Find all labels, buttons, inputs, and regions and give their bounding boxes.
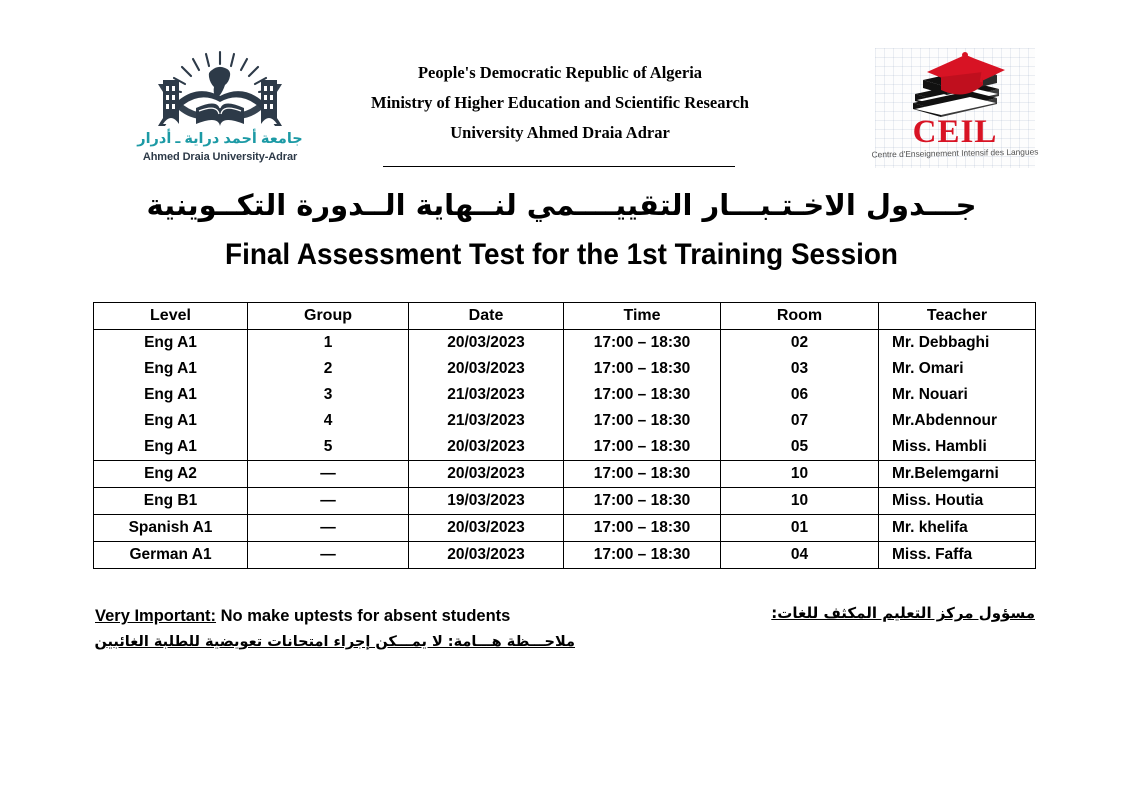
cell-teacher: Mr.Abdennour (879, 408, 1036, 434)
cell-room: 01 (721, 515, 879, 542)
cell-date: 21/03/2023 (409, 408, 564, 434)
cell-group: 4 (248, 408, 409, 434)
page-title-english: Final Assessment Test for the 1st Traini… (39, 238, 1083, 272)
signature-line-arabic: مسؤول مركز التعليم المكثف للغات: (771, 604, 1035, 622)
cell-time: 17:00 – 18:30 (564, 434, 721, 461)
cell-level: Eng A2 (94, 461, 248, 488)
header-line-country: People's Democratic Republic of Algeria (300, 58, 820, 88)
column-header-time: Time (564, 303, 721, 330)
cell-date: 20/03/2023 (409, 330, 564, 357)
cell-room: 10 (721, 488, 879, 515)
cell-teacher: Miss. Faffa (879, 542, 1036, 569)
cell-time: 17:00 – 18:30 (564, 356, 721, 382)
cell-teacher: Mr. Omari (879, 356, 1036, 382)
cell-room: 07 (721, 408, 879, 434)
cell-group: — (248, 488, 409, 515)
table-header-row: Level Group Date Time Room Teacher (94, 303, 1036, 330)
cell-group: 1 (248, 330, 409, 357)
table-row: Eng A1321/03/202317:00 – 18:3006Mr. Noua… (94, 382, 1036, 408)
cell-room: 02 (721, 330, 879, 357)
cell-date: 20/03/2023 (409, 356, 564, 382)
column-header-room: Room (721, 303, 879, 330)
schedule-table: Level Group Date Time Room Teacher Eng A… (93, 302, 1036, 569)
cell-group: 3 (248, 382, 409, 408)
column-header-group: Group (248, 303, 409, 330)
column-header-teacher: Teacher (879, 303, 1036, 330)
cell-room: 03 (721, 356, 879, 382)
graduation-cap-books-icon (897, 50, 1013, 120)
table-row: Eng A2—20/03/202317:00 – 18:3010Mr.Belem… (94, 461, 1036, 488)
university-logo-english-text: Ahmed Draia University-Adrar (100, 151, 340, 163)
schedule-table-head: Level Group Date Time Room Teacher (94, 303, 1036, 330)
cell-group: 2 (248, 356, 409, 382)
cell-group: 5 (248, 434, 409, 461)
table-row: Eng A1220/03/202317:00 – 18:3003Mr. Omar… (94, 356, 1036, 382)
cell-teacher: Miss. Houtia (879, 488, 1036, 515)
schedule-table-wrapper: Level Group Date Time Room Teacher Eng A… (93, 302, 1035, 569)
cell-level: Eng A1 (94, 356, 248, 382)
cell-group: — (248, 515, 409, 542)
cell-date: 20/03/2023 (409, 542, 564, 569)
important-note-arabic: ملاحـــظة هـــامة: لا يمـــكن إجراء امتح… (95, 634, 575, 650)
column-header-level: Level (94, 303, 248, 330)
cell-room: 05 (721, 434, 879, 461)
schedule-table-body: Eng A1120/03/202317:00 – 18:3002Mr. Debb… (94, 330, 1036, 569)
cell-group: — (248, 542, 409, 569)
cell-time: 17:00 – 18:30 (564, 461, 721, 488)
cell-teacher: Miss. Hambli (879, 434, 1036, 461)
ceil-logo-wordmark: CEIL (875, 116, 1035, 149)
cell-date: 21/03/2023 (409, 382, 564, 408)
ministry-header-block: People's Democratic Republic of Algeria … (300, 58, 820, 148)
cell-time: 17:00 – 18:30 (564, 408, 721, 434)
cell-level: Eng A1 (94, 434, 248, 461)
cell-level: Spanish A1 (94, 515, 248, 542)
page-title-arabic: جـــدول الاخـتـبـــار التقييــــمي لنــه… (0, 188, 1123, 222)
document-header: جامعة أحمد دراية ـ أدرار Ahmed Draia Uni… (0, 40, 1123, 170)
cell-teacher: Mr. khelifa (879, 515, 1036, 542)
cell-date: 20/03/2023 (409, 434, 564, 461)
cell-teacher: Mr. Nouari (879, 382, 1036, 408)
table-row: Spanish A1—20/03/202317:00 – 18:3001Mr. … (94, 515, 1036, 542)
cell-level: Eng B1 (94, 488, 248, 515)
cell-level: Eng A1 (94, 330, 248, 357)
table-row: Eng A1520/03/202317:00 – 18:3005Miss. Ha… (94, 434, 1036, 461)
cell-time: 17:00 – 18:30 (564, 488, 721, 515)
cell-time: 17:00 – 18:30 (564, 542, 721, 569)
header-divider (383, 166, 735, 167)
table-row: Eng A1120/03/202317:00 – 18:3002Mr. Debb… (94, 330, 1036, 357)
cell-room: 10 (721, 461, 879, 488)
important-note-label: Very Important: (95, 607, 216, 625)
cell-level: Eng A1 (94, 408, 248, 434)
table-row: Eng A1421/03/202317:00 – 18:3007Mr.Abden… (94, 408, 1036, 434)
important-note-text: No make uptests for absent students (216, 607, 510, 625)
table-row: Eng B1—19/03/202317:00 – 18:3010Miss. Ho… (94, 488, 1036, 515)
column-header-date: Date (409, 303, 564, 330)
ceil-logo: CEIL Centre d'Enseignement Intensif des … (875, 48, 1035, 168)
important-note-english: Very Important: No make uptests for abse… (95, 607, 510, 626)
cell-time: 17:00 – 18:30 (564, 382, 721, 408)
cell-teacher: Mr. Debbaghi (879, 330, 1036, 357)
cell-time: 17:00 – 18:30 (564, 330, 721, 357)
header-line-ministry: Ministry of Higher Education and Scienti… (300, 88, 820, 118)
header-line-university: University Ahmed Draia Adrar (300, 118, 820, 148)
cell-time: 17:00 – 18:30 (564, 515, 721, 542)
cell-date: 19/03/2023 (409, 488, 564, 515)
cell-group: — (248, 461, 409, 488)
cell-date: 20/03/2023 (409, 515, 564, 542)
cell-room: 06 (721, 382, 879, 408)
cell-teacher: Mr.Belemgarni (879, 461, 1036, 488)
cell-room: 04 (721, 542, 879, 569)
cell-date: 20/03/2023 (409, 461, 564, 488)
cell-level: Eng A1 (94, 382, 248, 408)
table-row: German A1—20/03/202317:00 – 18:3004Miss.… (94, 542, 1036, 569)
cell-level: German A1 (94, 542, 248, 569)
